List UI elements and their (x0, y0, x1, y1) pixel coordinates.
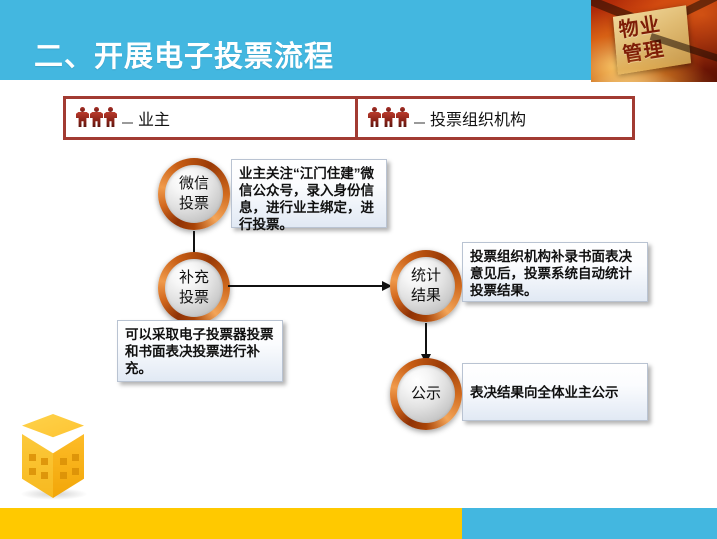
legend-box: 业主 投票组织机构 (63, 96, 635, 140)
building-window (41, 458, 48, 465)
building-icon (18, 414, 90, 500)
flow-node-wechat-vote-label: 微信 投票 (165, 165, 223, 223)
page-title: 二、开展电子投票流程 (34, 33, 334, 75)
callout-publicize-note: 表决结果向全体业主公示 (462, 363, 648, 421)
node-line-1: 统计 (411, 267, 441, 284)
building-window (72, 454, 79, 461)
people-icon (368, 107, 409, 129)
arrow-supplement-to-tally (228, 285, 383, 287)
arrow-tally-to-publicize (425, 323, 427, 355)
building-window (29, 454, 36, 461)
building-window (60, 472, 67, 479)
flow-node-publicize[interactable]: 公示 (390, 358, 462, 430)
flow-node-wechat-vote[interactable]: 微信 投票 (158, 158, 230, 230)
flow-node-tally-result[interactable]: 统计 结果 (390, 250, 462, 322)
building-window (41, 472, 48, 479)
legend-dash (414, 122, 425, 124)
flow-node-supplement-vote-label: 补充 投票 (165, 259, 223, 317)
flow-node-publicize-label: 公示 (397, 365, 455, 423)
header-image-glow (591, 54, 717, 82)
node-line-1: 公示 (411, 384, 441, 404)
node-line-1: 补充 (179, 269, 209, 286)
header-decorative-image: 物业管理 (591, 0, 717, 82)
node-line-2: 投票 (179, 289, 209, 306)
footer-bar-right (462, 508, 717, 539)
legend-label-organizer: 投票组织机构 (430, 106, 526, 130)
callout-tally-note: 投票组织机构补录书面表决意见后，投票系统自动统计投票结果。 (462, 242, 648, 302)
callout-wechat-note: 业主关注“江门住建”微信公众号，录入身份信息，进行业主绑定，进行投票。 (231, 159, 387, 228)
building-window (60, 458, 67, 465)
legend-label-owner: 业主 (138, 106, 170, 130)
footer-bar-left (0, 508, 462, 539)
building-window (72, 468, 79, 475)
node-line-2: 投票 (179, 195, 209, 212)
flow-node-supplement-vote[interactable]: 补充 投票 (158, 252, 230, 324)
node-line-2: 结果 (411, 287, 441, 304)
flow-node-tally-result-label: 统计 结果 (397, 257, 455, 315)
callout-supplement-note: 可以采取电子投票器投票和书面表决投票进行补充。 (117, 320, 283, 382)
legend-cell-owner: 业主 (66, 99, 358, 137)
slide-canvas: 二、开展电子投票流程 物业管理 业主 投票组织机构 微信 (0, 0, 717, 539)
people-icon (76, 107, 117, 129)
node-line-1: 微信 (179, 175, 209, 192)
legend-cell-organizer: 投票组织机构 (358, 99, 632, 137)
legend-dash (122, 122, 133, 124)
building-window (29, 468, 36, 475)
